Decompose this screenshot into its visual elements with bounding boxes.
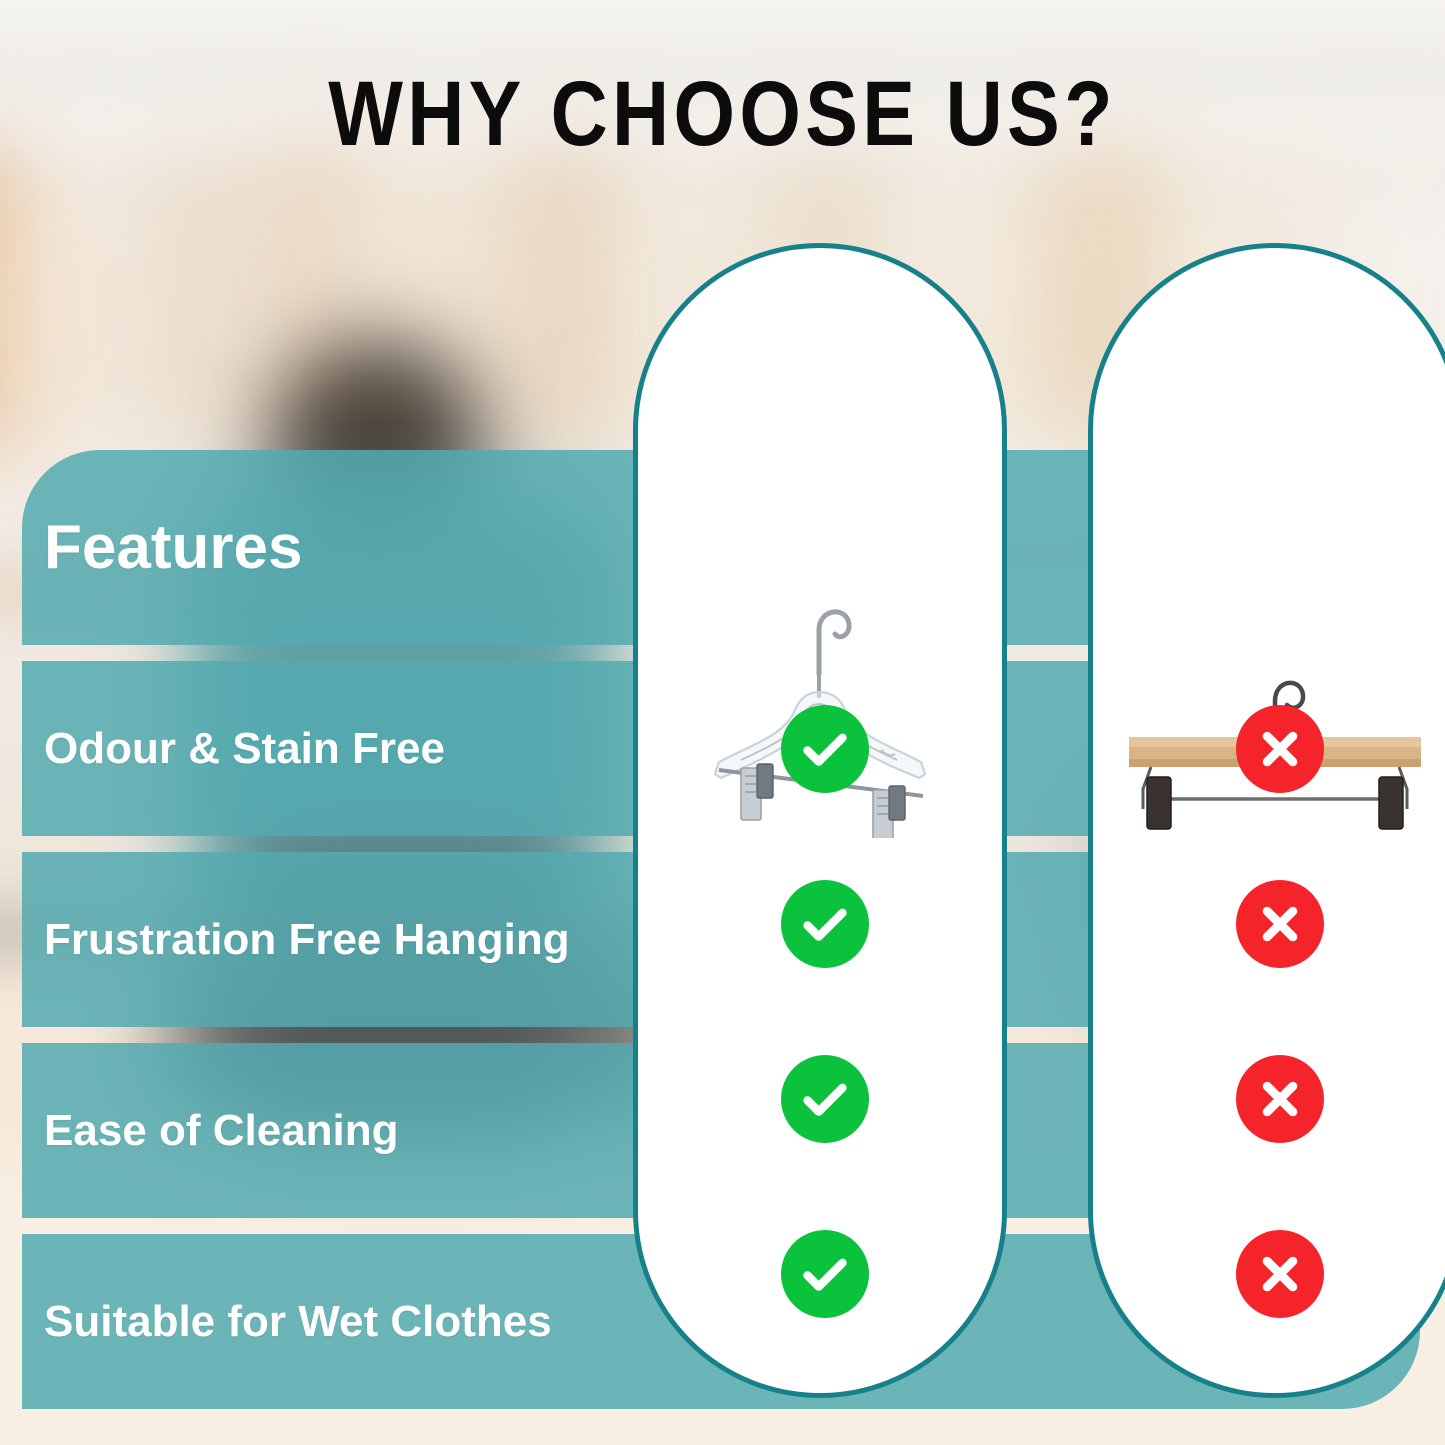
comparison-column-ours[interactable] [633,243,1007,1398]
check-circle-icon [781,880,869,968]
check-circle-icon [781,705,869,793]
ours-mark-list [638,248,1002,1393]
feature-label: Ease of Cleaning [44,1109,399,1153]
feature-label: Frustration Free Hanging [44,918,570,962]
check-circle-icon [781,1230,869,1318]
page-title: WHY CHOOSE US? [101,62,1344,167]
infographic-canvas: WHY CHOOSE US? Features Odour & Stain Fr… [0,0,1445,1445]
feature-label: Suitable for Wet Clothes [44,1300,552,1344]
feature-label: Odour & Stain Free [44,727,445,771]
comparison-column-theirs[interactable] [1088,243,1445,1398]
cross-circle-icon [1236,1055,1324,1143]
check-circle-icon [781,1055,869,1143]
features-header-label: Features [44,517,302,579]
cross-circle-icon [1236,880,1324,968]
cross-circle-icon [1236,705,1324,793]
cross-circle-icon [1236,1230,1324,1318]
theirs-mark-list [1093,248,1445,1393]
